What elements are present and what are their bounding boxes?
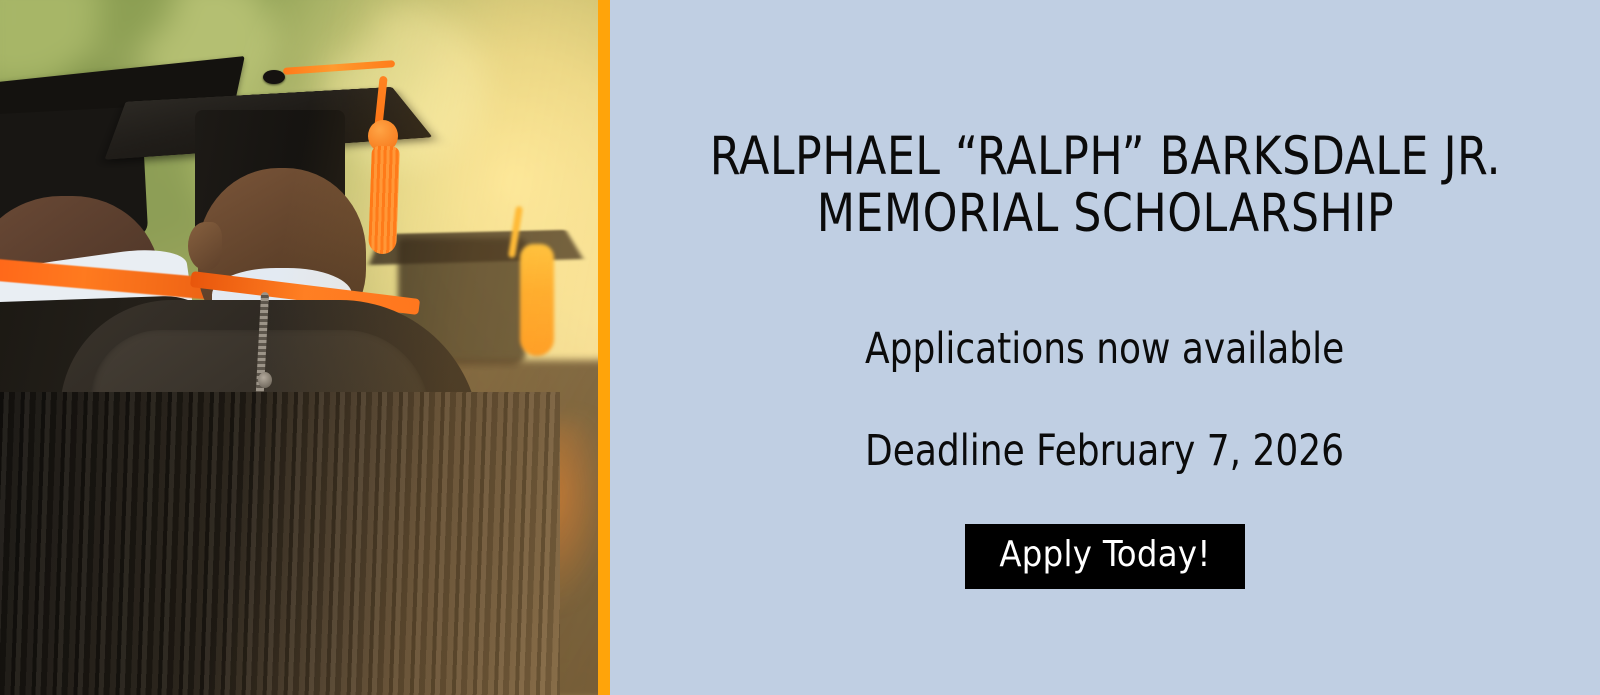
orange-divider-bar — [598, 0, 610, 695]
availability-text: Applications now available — [865, 324, 1344, 374]
graduate-main-gown-pleats — [0, 392, 560, 695]
scholarship-banner: RALPHAEL “RALPH” BARKSDALE JR. MEMORIAL … — [0, 0, 1600, 695]
scholarship-title: RALPHAEL “RALPH” BARKSDALE JR. MEMORIAL … — [709, 128, 1500, 242]
graduate-main-ear — [188, 222, 222, 270]
scholarship-title-line-2: MEMORIAL SCHOLARSHIP — [709, 185, 1500, 242]
graduation-photo — [0, 0, 598, 695]
cta-container: Apply Today! — [965, 524, 1244, 589]
graduate-main-zipper-pull — [258, 372, 272, 388]
deadline-text: Deadline February 7, 2026 — [865, 426, 1344, 476]
apply-today-button[interactable]: Apply Today! — [965, 524, 1244, 589]
scholarship-title-line-1: RALPHAEL “RALPH” BARKSDALE JR. — [709, 128, 1500, 185]
graduate-background-tassel — [520, 244, 554, 356]
graduate-main-cap-button — [263, 70, 285, 84]
content-panel: RALPHAEL “RALPH” BARKSDALE JR. MEMORIAL … — [610, 0, 1600, 695]
graduate-main-tassel-fringe — [368, 146, 400, 255]
